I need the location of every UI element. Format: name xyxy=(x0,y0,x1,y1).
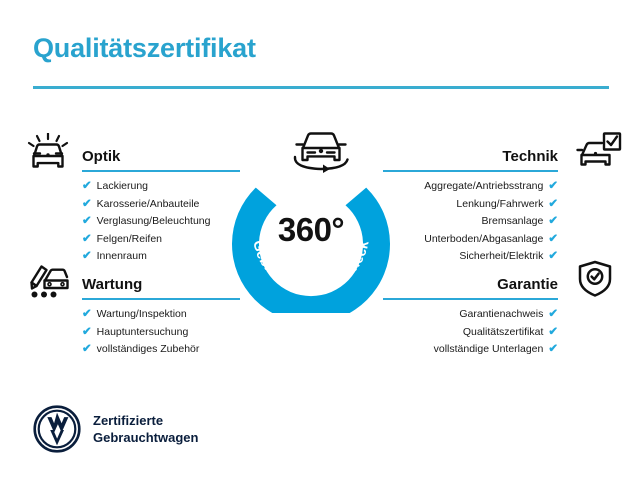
check-icon: ✔ xyxy=(82,216,92,228)
section-title-wartung: Wartung xyxy=(82,276,142,293)
check-icon: ✔ xyxy=(82,234,92,246)
section-garantie: GarantieGarantienachweis✔Qualitätszertif… xyxy=(383,270,558,359)
check-icon: ✔ xyxy=(548,216,558,228)
check-icon: ✔ xyxy=(82,344,92,356)
check-icon: ✔ xyxy=(82,309,92,321)
checklist-item: ✔Hauptuntersuchung xyxy=(82,324,240,342)
vw-logo xyxy=(33,405,81,453)
checklist-item-label: Qualitätszertifikat xyxy=(463,324,544,342)
check-icon: ✔ xyxy=(548,234,558,246)
checklist-item: ✔Felgen/Reifen xyxy=(82,231,240,249)
section-header-wartung: Wartung xyxy=(82,270,240,300)
check-icon: ✔ xyxy=(548,251,558,263)
checklist-item-label: Sicherheit/Elektrik xyxy=(459,248,543,266)
checklist-item-label: Innenraum xyxy=(97,248,147,266)
section-header-garantie: Garantie xyxy=(383,270,558,300)
checklist-item: Lenkung/Fahrwerk✔ xyxy=(383,196,558,214)
section-underline-garantie xyxy=(383,298,558,300)
checklist-item: ✔Innenraum xyxy=(82,248,240,266)
checklist-item: Sicherheit/Elektrik✔ xyxy=(383,248,558,266)
checklist-item-label: Lackierung xyxy=(97,178,148,196)
check-icon: ✔ xyxy=(548,344,558,356)
section-optik: Optik✔Lackierung✔Karosserie/Anbauteile✔V… xyxy=(82,142,240,266)
badge-degrees-label: 360° xyxy=(232,211,390,249)
section-underline-wartung xyxy=(82,298,240,300)
check-icon: ✔ xyxy=(82,199,92,211)
checklist-item: vollständige Unterlagen✔ xyxy=(383,341,558,359)
car-rotation-icon xyxy=(285,126,357,178)
checklist-technik: Aggregate/Antriebsstrang✔Lenkung/Fahrwer… xyxy=(383,178,558,266)
title-divider xyxy=(33,86,609,89)
section-title-garantie: Garantie xyxy=(497,276,558,293)
page-title: Qualitätszertifikat xyxy=(33,33,256,64)
checklist-wartung: ✔Wartung/Inspektion✔Hauptuntersuchung✔vo… xyxy=(82,306,240,359)
vw-certified-footer: Zertifizierte Gebrauchtwagen xyxy=(33,405,198,453)
checklist-item-label: Aggregate/Antriebsstrang xyxy=(424,178,543,196)
checklist-item: Unterboden/Abgasanlage✔ xyxy=(383,231,558,249)
vw-footer-text: Zertifizierte Gebrauchtwagen xyxy=(93,412,198,446)
section-underline-technik xyxy=(383,170,558,172)
check-icon: ✔ xyxy=(548,309,558,321)
service-record-icon xyxy=(25,260,71,300)
checklist-item-label: Verglasung/Beleuchtung xyxy=(97,213,211,231)
checklist-item-label: Bremsanlage xyxy=(481,213,543,231)
checklist-item: ✔vollständiges Zubehör xyxy=(82,341,240,359)
check-icon: ✔ xyxy=(548,199,558,211)
car-shine-icon xyxy=(25,133,71,173)
checklist-item: ✔Wartung/Inspektion xyxy=(82,306,240,324)
checklist-item-label: vollständige Unterlagen xyxy=(434,341,544,359)
checklist-item-label: vollständiges Zubehör xyxy=(97,341,200,359)
vw-footer-line1: Zertifizierte xyxy=(93,412,198,429)
section-title-technik: Technik xyxy=(502,148,558,165)
section-underline-optik xyxy=(82,170,240,172)
checklist-item: ✔Lackierung xyxy=(82,178,240,196)
checklist-item-label: Wartung/Inspektion xyxy=(97,306,187,324)
shield-check-icon xyxy=(572,259,618,299)
checklist-item: Garantienachweis✔ xyxy=(383,306,558,324)
checklist-item-label: Unterboden/Abgasanlage xyxy=(424,231,543,249)
checklist-item: Bremsanlage✔ xyxy=(383,213,558,231)
car-checkbox-icon xyxy=(576,131,622,171)
check-icon: ✔ xyxy=(548,327,558,339)
checklist-garantie: Garantienachweis✔Qualitätszertifikat✔vol… xyxy=(383,306,558,359)
vw-footer-line2: Gebrauchtwagen xyxy=(93,429,198,446)
check-icon: ✔ xyxy=(82,327,92,339)
section-header-technik: Technik xyxy=(383,142,558,172)
checklist-item-label: Felgen/Reifen xyxy=(97,231,162,249)
checklist-item: Aggregate/Antriebsstrang✔ xyxy=(383,178,558,196)
checklist-optik: ✔Lackierung✔Karosserie/Anbauteile✔Vergla… xyxy=(82,178,240,266)
section-title-optik: Optik xyxy=(82,148,120,165)
checklist-item-label: Hauptuntersuchung xyxy=(97,324,189,342)
checklist-item-label: Karosserie/Anbauteile xyxy=(97,196,200,214)
check-icon: ✔ xyxy=(548,181,558,193)
checklist-item: ✔Verglasung/Beleuchtung xyxy=(82,213,240,231)
section-technik: TechnikAggregate/Antriebsstrang✔Lenkung/… xyxy=(383,142,558,266)
section-header-optik: Optik xyxy=(82,142,240,172)
checklist-item-label: Garantienachweis xyxy=(459,306,543,324)
checklist-item: Qualitätszertifikat✔ xyxy=(383,324,558,342)
check-icon: ✔ xyxy=(82,251,92,263)
checklist-item-label: Lenkung/Fahrwerk xyxy=(456,196,543,214)
section-wartung: Wartung✔Wartung/Inspektion✔Hauptuntersuc… xyxy=(82,270,240,359)
360-gebrauchtwagen-check-badge: Gebrauchtwagen-Check 360° xyxy=(232,155,390,313)
check-icon: ✔ xyxy=(82,181,92,193)
checklist-item: ✔Karosserie/Anbauteile xyxy=(82,196,240,214)
qualitaetszertifikat-page: Qualitätszertifikat xyxy=(0,0,640,480)
